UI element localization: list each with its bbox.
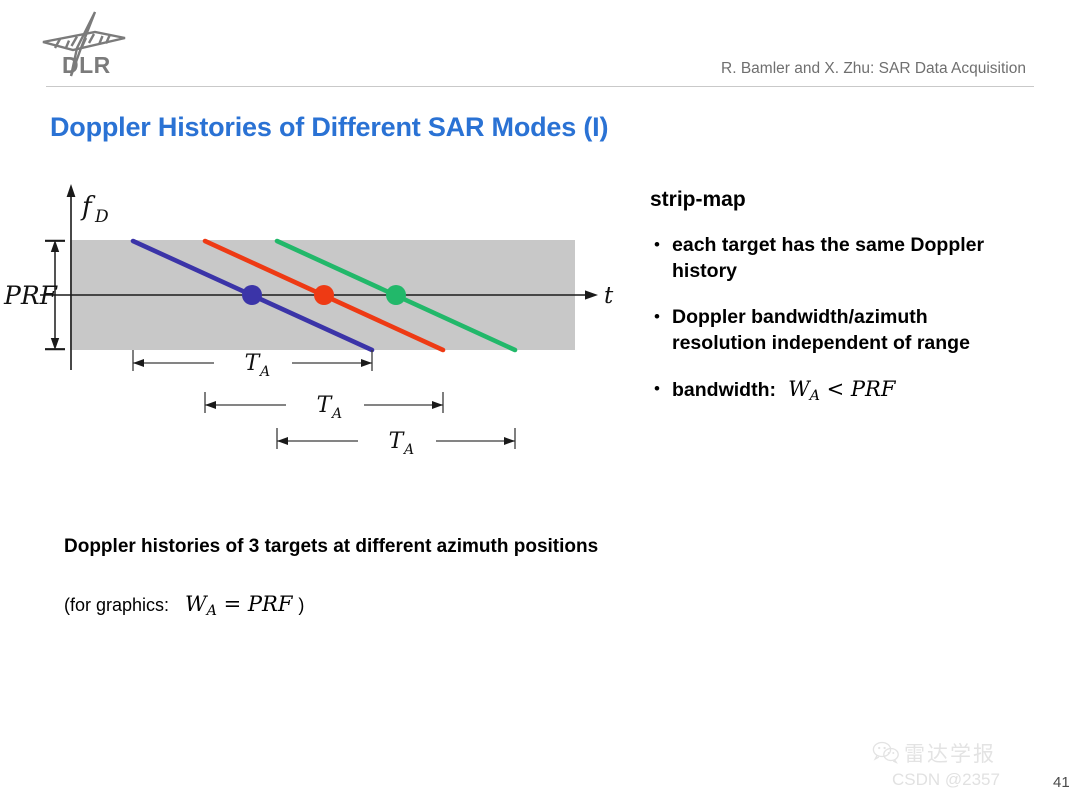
y-axis-arrowhead [67,184,76,197]
prf-label: PRF [3,281,59,310]
header-divider [46,86,1034,87]
svg-text:A: A [402,442,414,458]
bullet-text: each target has the same Doppler history [672,232,1017,284]
bullet-label: bandwidth: [672,379,776,401]
list-item: • each target has the same Doppler histo… [650,232,1050,284]
slide-header: DLR R. Bamler and X. Zhu: SAR Data Acqui… [0,0,1080,92]
bullet-icon: • [650,232,672,258]
strip-map-section: strip-map • each target has the same Dop… [650,188,1050,429]
header-attribution: R. Bamler and X. Zhu: SAR Data Acquisiti… [721,60,1026,78]
figure-caption: Doppler histories of 3 targets at differ… [64,536,598,558]
ta-dimension-1: T A [133,350,372,380]
target-marker-3 [386,285,406,305]
watermark-credit: CSDN @2357 [892,770,1000,790]
ta-dimension-2: T A [205,392,443,422]
y-axis-label: f [80,192,96,222]
ta-dimension-3: T A [277,428,515,458]
x-axis-label: t [604,283,614,309]
list-item: • bandwidth: WA < PRF [650,376,1050,409]
watermark-brand: 雷达学报 [904,738,996,768]
svg-text:A: A [330,406,342,422]
graphics-note: (for graphics: WA = PRF ) [64,592,304,619]
target-marker-2 [314,285,334,305]
dlr-wordmark: DLR [62,52,111,79]
x-axis-arrowhead [585,290,598,299]
doppler-history-chart: T A T A T A f D t PRF [0,170,640,470]
doppler-history-figure: T A T A T A f D t PRF [0,170,640,470]
target-marker-1 [242,285,262,305]
watermark: 雷达学报 CSDN @2357 [872,738,1072,808]
page-number: 41 [1053,774,1070,791]
page-title: Doppler Histories of Different SAR Modes… [50,112,608,143]
bandwidth-formula: WA < PRF [781,377,895,401]
graphics-note-formula: WA = PRF [185,592,292,619]
bullet-icon: • [650,304,672,330]
graphics-note-prefix: (for graphics: [64,595,169,616]
graphics-note-suffix: ) [298,595,304,616]
bullet-text: Doppler bandwidth/azimuth resolution ind… [672,304,1017,356]
svg-text:A: A [258,364,270,380]
list-item: • Doppler bandwidth/azimuth resolution i… [650,304,1050,356]
strip-map-heading: strip-map [650,188,1050,212]
y-axis-label-sub: D [94,207,109,227]
bullet-text-bandwidth: bandwidth: WA < PRF [672,376,895,409]
wechat-icon [872,740,900,764]
bullet-icon: • [650,376,672,402]
